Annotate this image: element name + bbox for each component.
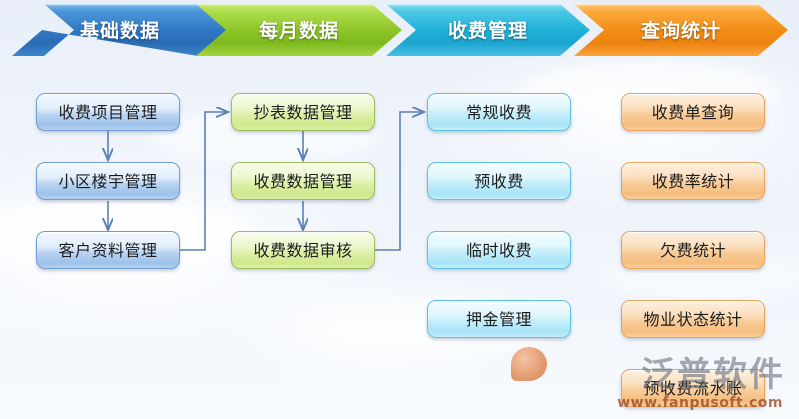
node-label: 收费单查询 bbox=[652, 99, 735, 123]
node-label: 收费率统计 bbox=[652, 168, 735, 192]
node-label: 临时收费 bbox=[466, 237, 532, 261]
node-query-5[interactable]: 预收费流水账 bbox=[621, 369, 765, 407]
node-label: 小区楼宇管理 bbox=[58, 168, 157, 192]
flowchart-canvas: 基础数据 每月数据 收费管理 查询统计 bbox=[0, 0, 799, 419]
node-label: 预收费流水账 bbox=[643, 375, 742, 399]
node-monthly-2[interactable]: 收费数据管理 bbox=[231, 162, 375, 200]
brand-logo-icon bbox=[511, 347, 547, 381]
node-query-2[interactable]: 收费率统计 bbox=[621, 162, 765, 200]
node-query-1[interactable]: 收费单查询 bbox=[621, 93, 765, 131]
node-query-3[interactable]: 欠费统计 bbox=[621, 231, 765, 269]
node-label: 物业状态统计 bbox=[643, 306, 742, 330]
step-basic-data[interactable]: 基础数据 bbox=[12, 4, 228, 56]
node-label: 欠费统计 bbox=[660, 237, 726, 261]
node-label: 收费数据管理 bbox=[253, 168, 352, 192]
node-monthly-1[interactable]: 抄表数据管理 bbox=[231, 93, 375, 131]
node-query-4[interactable]: 物业状态统计 bbox=[621, 300, 765, 338]
node-charge-1[interactable]: 常规收费 bbox=[427, 93, 571, 131]
node-label: 收费数据审核 bbox=[253, 237, 352, 261]
process-step-bar: 基础数据 每月数据 收费管理 查询统计 bbox=[0, 4, 799, 60]
wire-monthly-to-charge bbox=[375, 112, 424, 250]
node-monthly-3[interactable]: 收费数据审核 bbox=[231, 231, 375, 269]
step-monthly-data[interactable]: 每月数据 bbox=[196, 4, 402, 56]
step-label: 基础数据 bbox=[80, 16, 160, 43]
step-label: 查询统计 bbox=[641, 16, 721, 43]
node-basic-3[interactable]: 客户资料管理 bbox=[36, 231, 180, 269]
node-label: 收费项目管理 bbox=[58, 99, 157, 123]
step-query-statistics[interactable]: 查询统计 bbox=[574, 4, 788, 56]
step-label: 收费管理 bbox=[448, 16, 528, 43]
node-label: 预收费 bbox=[474, 168, 524, 192]
node-basic-2[interactable]: 小区楼宇管理 bbox=[36, 162, 180, 200]
step-charge-management[interactable]: 收费管理 bbox=[386, 4, 590, 56]
node-label: 押金管理 bbox=[466, 306, 532, 330]
node-label: 抄表数据管理 bbox=[253, 99, 352, 123]
node-charge-3[interactable]: 临时收费 bbox=[427, 231, 571, 269]
step-label: 每月数据 bbox=[259, 16, 339, 43]
node-charge-4[interactable]: 押金管理 bbox=[427, 300, 571, 338]
node-label: 常规收费 bbox=[466, 99, 532, 123]
node-label: 客户资料管理 bbox=[58, 237, 157, 261]
node-basic-1[interactable]: 收费项目管理 bbox=[36, 93, 180, 131]
node-charge-2[interactable]: 预收费 bbox=[427, 162, 571, 200]
